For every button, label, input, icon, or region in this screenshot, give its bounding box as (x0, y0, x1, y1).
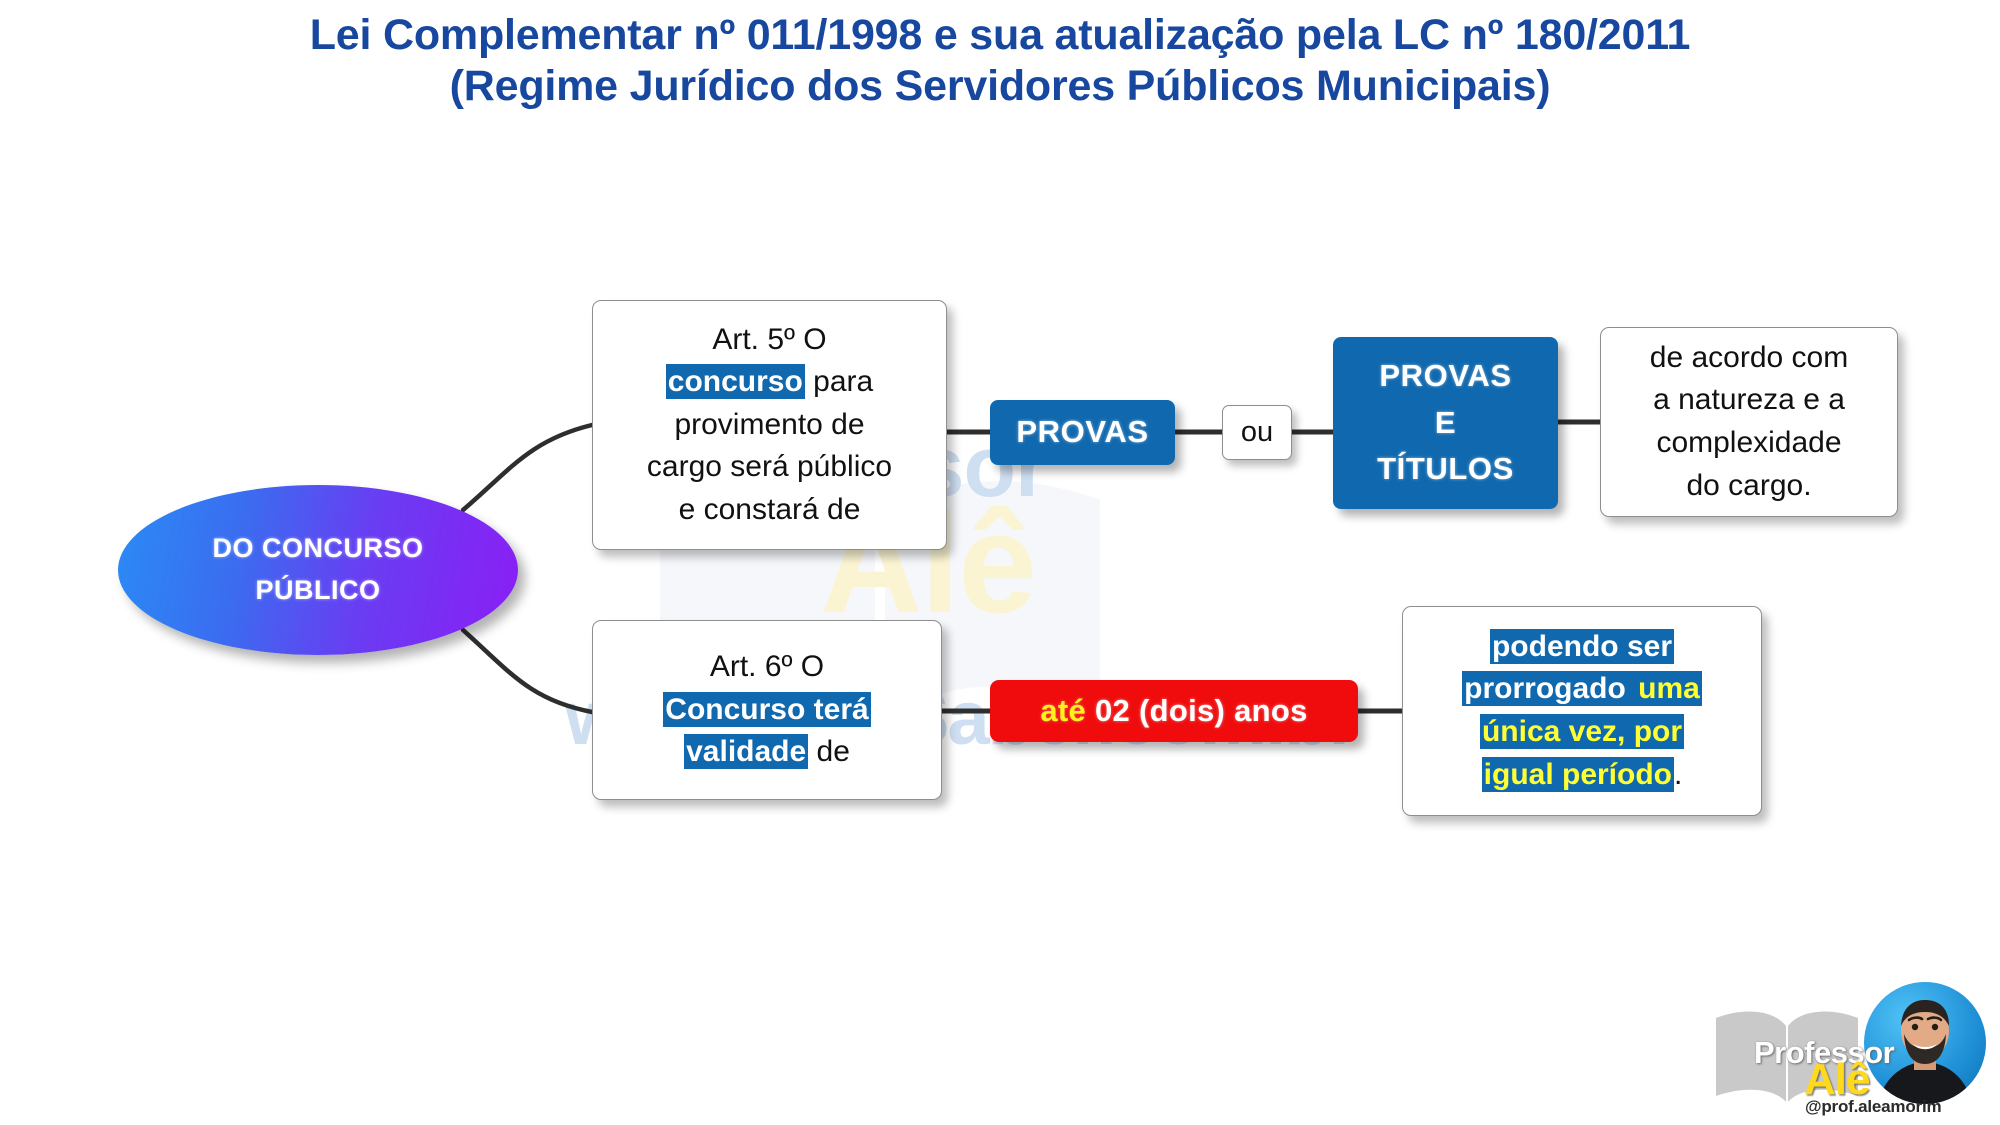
title-line-1: Lei Complementar nº 011/1998 e sua atual… (310, 11, 1691, 59)
art6-highlight-concurso-tera: Concurso terá (663, 692, 870, 727)
root-line-1: DO CONCURSO (212, 528, 423, 570)
node-prorrogacao[interactable]: podendo ser prorrogado uma única vez, po… (1402, 606, 1762, 816)
node-prazo-validade[interactable]: até 02 (dois) anos (990, 680, 1358, 742)
acordo-line-1: de acordo com (1650, 337, 1848, 380)
acordo-line-4: do cargo. (1686, 465, 1811, 508)
prazo-anos-label: 02 (dois) anos (1095, 693, 1308, 729)
brand-logo: Professor Alê @prof.aleamorim (1712, 1000, 1992, 1120)
acordo-line-2: a natureza e a (1653, 379, 1845, 422)
art5-line-1: Art. 5º O (712, 319, 826, 362)
prorrog-line-4: igual período. (1482, 754, 1683, 797)
slide-canvas: Lei Complementar nº 011/1998 e sua atual… (0, 0, 2000, 1125)
art5-line-3: provimento de (674, 404, 864, 447)
art5-line-4: cargo será público (647, 446, 892, 489)
prorrog-hl-2: prorrogado (1462, 671, 1636, 706)
art6-line-2: Concurso terá (663, 689, 870, 732)
prorrog-line-1: podendo ser (1490, 626, 1674, 669)
art5-line-2: concurso para (666, 361, 873, 404)
prorrog-line-3: única vez, por (1480, 711, 1684, 754)
prorrog-period: . (1674, 758, 1682, 791)
prorrog-hl-4-yellow: igual período (1482, 757, 1674, 792)
art5-line-2-tail: para (805, 365, 873, 398)
prorrog-line-2: prorrogado uma (1462, 668, 1702, 711)
logo-handle: @prof.aleamorim (1805, 1097, 1941, 1117)
art6-line-3: validade de (684, 731, 850, 774)
art6-line-3-tail: de (808, 735, 850, 768)
art5-line-5: e constará de (679, 489, 861, 532)
node-art5-card[interactable]: Art. 5º O concurso para provimento de ca… (592, 300, 947, 550)
provas-titulos-line-1: PROVAS (1379, 353, 1511, 400)
provas-label: PROVAS (1016, 409, 1148, 456)
node-de-acordo-com[interactable]: de acordo com a natureza e a complexidad… (1600, 327, 1898, 517)
prorrog-hl-3-yellow: única vez, por (1480, 714, 1684, 749)
node-provas[interactable]: PROVAS (990, 400, 1175, 465)
connector-root-to-art6 (463, 630, 592, 712)
page-title: Lei Complementar nº 011/1998 e sua atual… (0, 10, 2000, 111)
provas-titulos-line-2: E (1435, 400, 1456, 447)
art6-highlight-validade: validade (684, 734, 808, 769)
provas-titulos-line-3: TÍTULOS (1377, 446, 1514, 493)
prorrog-hl-1: podendo ser (1490, 629, 1674, 664)
acordo-line-3: complexidade (1656, 422, 1841, 465)
title-line-2: (Regime Jurídico dos Servidores Públicos… (0, 61, 2000, 112)
art5-highlight-concurso: concurso (666, 364, 805, 399)
art6-line-1: Art. 6º O (710, 646, 824, 689)
ou-label: ou (1241, 416, 1273, 449)
node-ou[interactable]: ou (1222, 405, 1292, 460)
prorrog-hl-2-yellow: uma (1636, 671, 1702, 706)
node-art6-card[interactable]: Art. 6º O Concurso terá validade de (592, 620, 942, 800)
connector-root-to-art5 (463, 425, 592, 510)
root-line-2: PÚBLICO (256, 570, 381, 612)
node-do-concurso-publico[interactable]: DO CONCURSO PÚBLICO (118, 485, 518, 655)
node-provas-e-titulos[interactable]: PROVAS E TÍTULOS (1333, 337, 1558, 509)
prazo-ate-label: até (1040, 693, 1086, 729)
